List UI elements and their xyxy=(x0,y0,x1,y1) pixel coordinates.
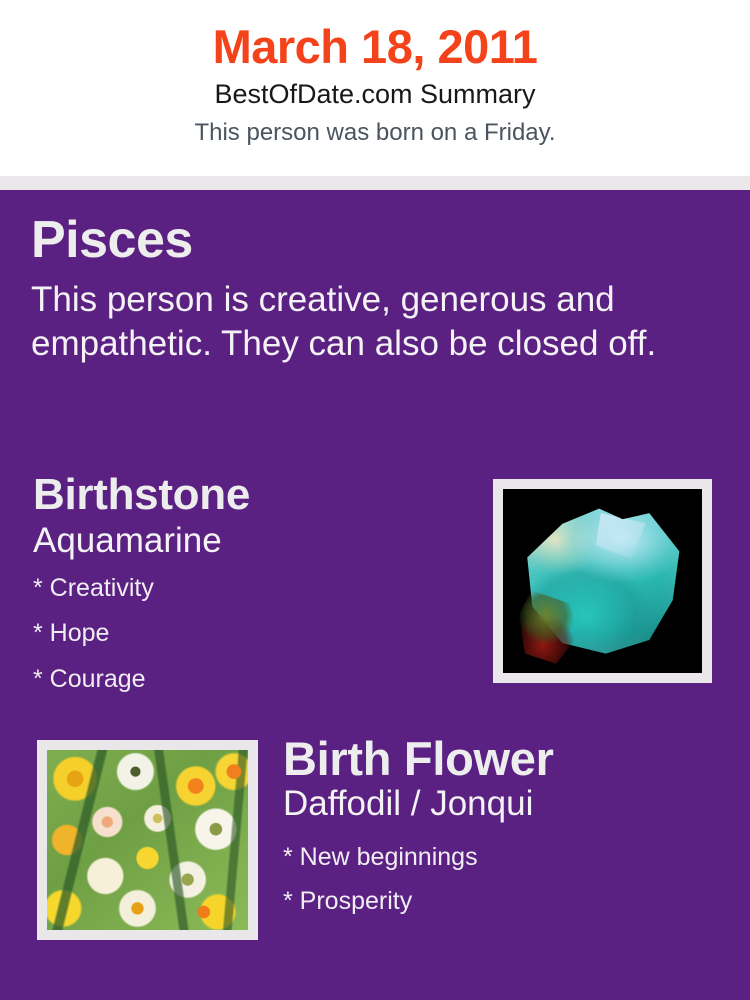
list-item: * Creativity xyxy=(33,566,473,612)
daffodil-coronas-layer xyxy=(47,750,248,930)
list-item: * Courage xyxy=(33,657,473,703)
site-summary-label: BestOfDate.com Summary xyxy=(0,71,750,110)
birthstone-traits-list: * Creativity * Hope * Courage xyxy=(33,560,473,703)
birthstone-title: Birthstone xyxy=(33,473,473,517)
daffodil-field-image xyxy=(47,750,248,930)
birthflower-section: Birth Flower Daffodil / Jonqui * New beg… xyxy=(283,735,733,924)
details-panel: Pisces This person is creative, generous… xyxy=(0,190,750,1000)
birthstone-image-frame xyxy=(493,479,712,683)
birthflower-title: Birth Flower xyxy=(283,735,733,782)
list-item: * New beginnings xyxy=(283,835,733,880)
zodiac-sign-title: Pisces xyxy=(31,214,721,266)
zodiac-section: Pisces This person is creative, generous… xyxy=(31,214,721,367)
birthflower-image-frame xyxy=(37,740,258,940)
page-title-date: March 18, 2011 xyxy=(0,0,750,71)
header-divider xyxy=(0,176,750,190)
header: March 18, 2011 BestOfDate.com Summary Th… xyxy=(0,0,750,176)
list-item: * Hope xyxy=(33,611,473,657)
birthflower-name: Daffodil / Jonqui xyxy=(283,782,733,823)
zodiac-description: This person is creative, generous and em… xyxy=(31,266,706,367)
birthflower-traits-list: * New beginnings * Prosperity xyxy=(283,823,733,924)
list-item: * Prosperity xyxy=(283,879,733,924)
born-day-note: This person was born on a Friday. xyxy=(0,110,750,146)
gem-facet-highlight xyxy=(596,513,646,559)
aquamarine-crystal-image xyxy=(503,489,702,673)
bestofdate-summary-card: March 18, 2011 BestOfDate.com Summary Th… xyxy=(0,0,750,1000)
birthstone-name: Aquamarine xyxy=(33,517,473,560)
birthstone-section: Birthstone Aquamarine * Creativity * Hop… xyxy=(33,473,473,702)
